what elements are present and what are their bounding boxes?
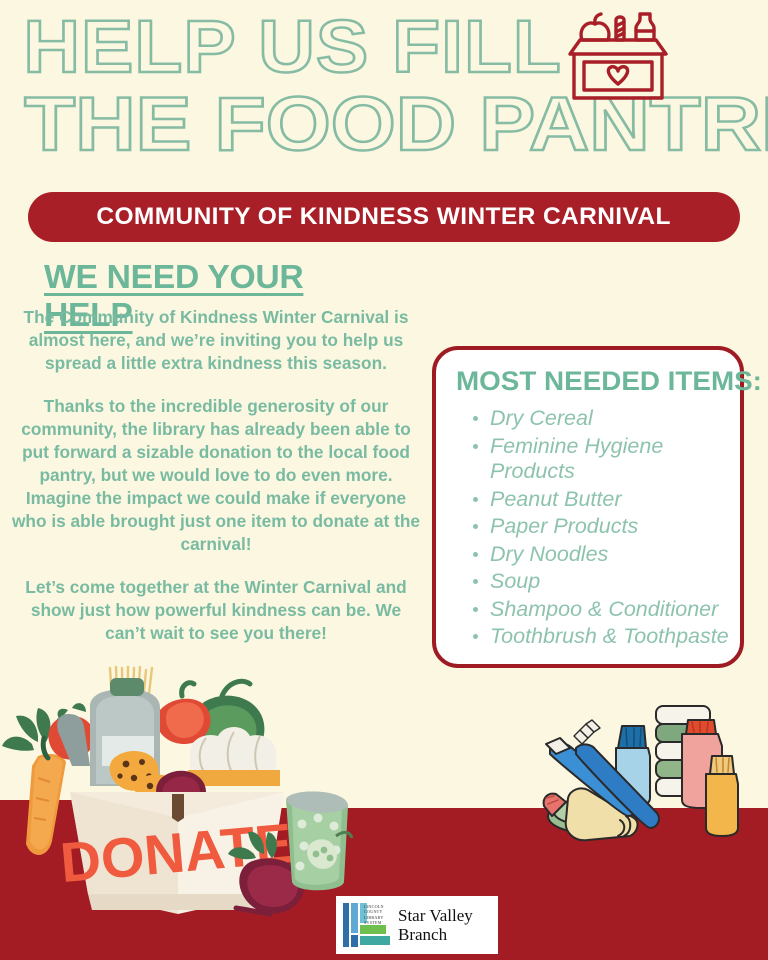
most-needed-items-list: Dry Cereal Feminine Hygiene Products Pea…	[464, 406, 732, 652]
branch-name-line-2: Branch	[398, 925, 473, 944]
toiletries-illustration	[530, 690, 768, 850]
list-item: Toothbrush & Toothpaste	[490, 624, 732, 650]
most-needed-items-box: MOST NEEDED ITEMS: Dry Cereal Feminine H…	[432, 346, 744, 668]
branch-name: Star Valley Branch	[394, 906, 473, 944]
event-banner-text: COMMUNITY OF KINDNESS WINTER CARNIVAL	[97, 203, 672, 231]
library-logo-card: LINCOLN COUNTY LIBRARY SYSTEM Star Valle…	[336, 896, 498, 954]
food-pantry-box-icon	[556, 6, 676, 106]
poster-canvas: HELP US FILL THE FOOD PANTRIES COMMUNITY…	[0, 0, 768, 960]
list-item: Soup	[490, 569, 732, 595]
body-paragraph-1: The Community of Kindness Winter Carniva…	[10, 306, 422, 375]
list-item: Peanut Butter	[490, 487, 732, 513]
library-system-text: LINCOLN COUNTY LIBRARY SYSTEM	[364, 904, 394, 926]
list-item: Dry Noodles	[490, 542, 732, 568]
most-needed-items-title: MOST NEEDED ITEMS:	[456, 366, 762, 397]
list-item: Paper Products	[490, 514, 732, 540]
body-copy: The Community of Kindness Winter Carniva…	[10, 306, 422, 645]
body-paragraph-3: Let’s come together at the Winter Carniv…	[10, 576, 422, 645]
list-item: Shampoo & Conditioner	[490, 597, 732, 623]
lincoln-county-library-system-logo-icon: LINCOLN COUNTY LIBRARY SYSTEM	[342, 901, 394, 949]
body-paragraph-2: Thanks to the incredible generosity of o…	[10, 395, 422, 556]
list-item: Dry Cereal	[490, 406, 732, 432]
donate-box-produce-illustration: DONATE	[0, 666, 362, 926]
list-item: Feminine Hygiene Products	[490, 434, 732, 485]
event-banner: COMMUNITY OF KINDNESS WINTER CARNIVAL	[28, 192, 740, 242]
branch-name-line-1: Star Valley	[398, 906, 473, 925]
